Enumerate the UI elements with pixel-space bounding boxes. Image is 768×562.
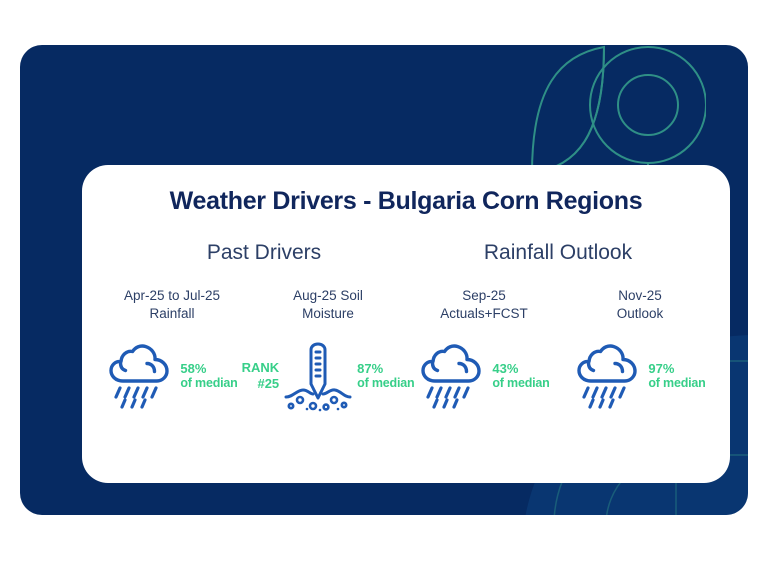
metric-value-sublabel: of median: [648, 376, 705, 391]
metric-label-line2: Moisture: [302, 306, 354, 321]
rain-cloud-icon: [418, 341, 488, 411]
metric-aug-soil-moisture: Aug-25 Soil Moisture RANK #25: [250, 287, 406, 413]
metric-value-sublabel: of median: [492, 376, 549, 391]
rain-cloud-icon: [106, 341, 176, 411]
metric-label-line1: Sep-25: [462, 288, 506, 303]
metric-percent: 97%: [648, 361, 674, 376]
navy-panel: Weather Drivers - Bulgaria Corn Regions …: [20, 45, 748, 515]
metric-nov-outlook: Nov-25 Outlook: [562, 287, 718, 413]
metric-label: Sep-25 Actuals+FCST: [440, 287, 527, 325]
rain-cloud-icon: [574, 341, 644, 411]
metric-rank: RANK #25: [242, 360, 280, 391]
content-card: Weather Drivers - Bulgaria Corn Regions …: [82, 165, 730, 483]
metric-percent: 43%: [492, 361, 518, 376]
metric-percent: 58%: [180, 361, 206, 376]
metric-percent: 87%: [357, 361, 383, 376]
slide-stage: Weather Drivers - Bulgaria Corn Regions …: [0, 0, 768, 562]
metric-apr-jul-rainfall: Apr-25 to Jul-25 Rainfall: [94, 287, 250, 413]
metric-label-line2: Outlook: [617, 306, 664, 321]
section-header-past-drivers: Past Drivers: [118, 241, 410, 265]
metric-value: 58% of median: [180, 361, 237, 392]
metric-label: Nov-25 Outlook: [617, 287, 664, 325]
metric-body: RANK #25: [242, 339, 415, 413]
metric-body: 97% of median: [574, 339, 705, 413]
metric-value: 43% of median: [492, 361, 549, 392]
metric-label-line1: Apr-25 to Jul-25: [124, 288, 220, 303]
metric-body: 58% of median: [106, 339, 237, 413]
metric-label-line2: Rainfall: [149, 306, 194, 321]
metric-rank-label: RANK: [242, 360, 280, 375]
metric-label: Apr-25 to Jul-25 Rainfall: [124, 287, 220, 325]
metric-value-sublabel: of median: [180, 376, 237, 391]
section-header-rainfall-outlook: Rainfall Outlook: [412, 241, 704, 265]
metric-label-line1: Nov-25: [618, 288, 662, 303]
metric-label-line1: Aug-25 Soil: [293, 288, 363, 303]
metric-label: Aug-25 Soil Moisture: [293, 287, 363, 325]
metric-rank-value: #25: [242, 376, 280, 392]
metric-label-line2: Actuals+FCST: [440, 306, 527, 321]
metric-value: 97% of median: [648, 361, 705, 392]
metric-body: 43% of median: [418, 339, 549, 413]
page-title: Weather Drivers - Bulgaria Corn Regions: [82, 187, 730, 216]
soil-probe-icon: [283, 340, 353, 412]
metrics-row: Apr-25 to Jul-25 Rainfall: [94, 287, 718, 413]
metric-sep-actuals-fcst: Sep-25 Actuals+FCST: [406, 287, 562, 413]
